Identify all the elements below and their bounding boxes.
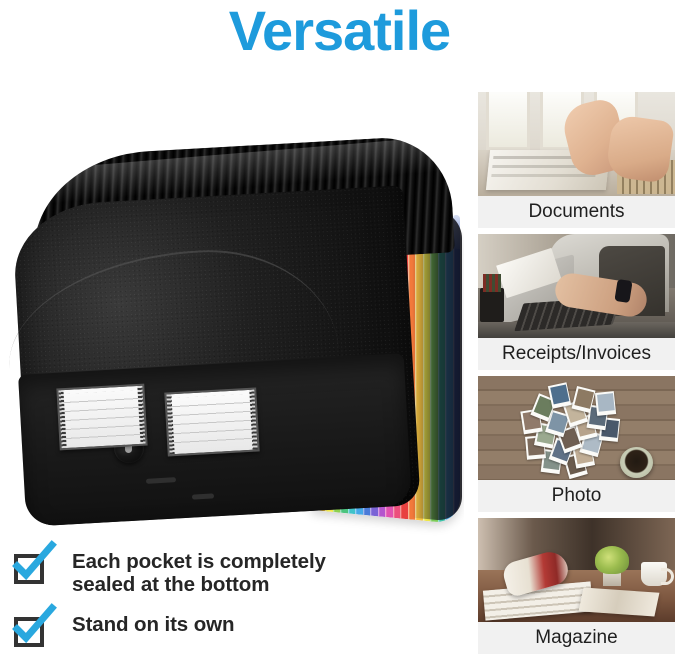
panel-magazine-photo — [478, 518, 675, 622]
panel-caption: Magazine — [478, 622, 675, 654]
checklist-line: Stand on its own — [72, 613, 234, 636]
window-pane — [486, 92, 530, 150]
use-case-panel-list: Documents Receipts/Invoices P — [478, 92, 675, 660]
panel-documents-photo — [478, 92, 675, 196]
polaroid-image — [550, 384, 569, 404]
checklist-item: Each pocket is completely sealed at the … — [10, 548, 450, 597]
expanding-file-folder — [14, 124, 454, 524]
panel-photo-photo — [478, 376, 675, 480]
coffee-cup — [641, 562, 667, 586]
feature-checklist: Each pocket is completely sealed at the … — [10, 548, 450, 663]
polaroid-image — [596, 393, 614, 412]
pocket-divider — [438, 217, 446, 523]
panel-caption: Documents — [478, 196, 675, 228]
checkmark-glyph — [11, 541, 57, 587]
panel-receipts-photo — [478, 234, 675, 338]
product-infographic: Versatile — [0, 0, 679, 663]
panel-magazine: Magazine — [478, 518, 675, 654]
panel-caption: Receipts/Invoices — [478, 338, 675, 370]
polaroid-image — [574, 388, 594, 409]
product-hero-image — [4, 96, 464, 536]
label-card-rules — [64, 390, 141, 444]
panel-photo: Photo — [478, 376, 675, 512]
pocket-divider — [453, 218, 461, 524]
polaroid-photo — [548, 382, 571, 408]
panel-caption: Photo — [478, 480, 675, 512]
pocket-divider — [445, 218, 453, 524]
label-card-window — [56, 384, 147, 451]
checklist-item: Stand on its own — [10, 611, 450, 653]
panel-receipts: Receipts/Invoices — [478, 234, 675, 370]
checklist-line: Each pocket is completely — [72, 550, 326, 573]
pocket-divider — [423, 216, 431, 522]
checklist-item-label: Stand on its own — [72, 611, 234, 636]
coffee-mug — [620, 447, 653, 478]
panel-documents: Documents — [478, 92, 675, 228]
page-title: Versatile — [0, 2, 679, 59]
polaroid-photo — [595, 391, 616, 416]
checklist-line: sealed at the bottom — [72, 573, 326, 596]
checkmark-icon — [14, 617, 44, 647]
plant-foliage — [595, 546, 629, 574]
pen-holder — [480, 288, 504, 322]
checkmark-glyph — [11, 604, 57, 650]
pocket-divider — [430, 216, 438, 522]
checkmark-icon — [14, 554, 44, 584]
label-card-window — [164, 387, 259, 456]
checklist-item-label: Each pocket is completely sealed at the … — [72, 548, 326, 597]
label-card-rules — [172, 394, 253, 450]
